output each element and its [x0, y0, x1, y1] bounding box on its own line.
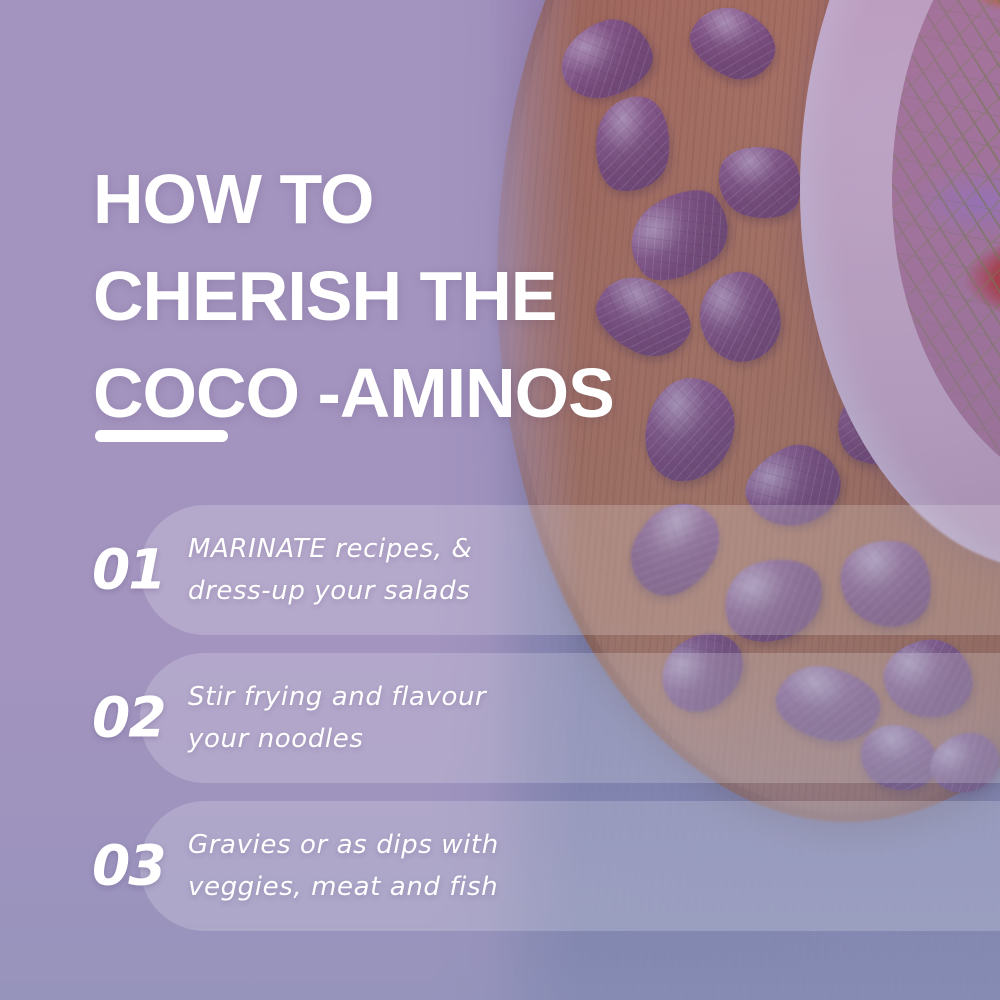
list-item-number: 02 [92, 691, 165, 746]
title-line-3: COCO -AMINOS [93, 345, 733, 442]
list-item-text: Gravies or as dips with veggies, meat an… [188, 824, 748, 908]
list-item-text: MARINATE recipes, & dress-up your salads [188, 528, 748, 612]
list-item-text-line: veggies, meat and fish [188, 866, 748, 908]
list-item-number: 01 [92, 543, 165, 598]
list-item-text-line: Gravies or as dips with [188, 824, 748, 866]
title-line-1: HOW TO [93, 151, 733, 248]
list-item: 03 Gravies or as dips with veggies, meat… [0, 801, 1000, 931]
poster: HOW TO CHERISH THE COCO -AMINOS 01 MARIN… [0, 0, 1000, 1000]
numbered-list: 01 MARINATE recipes, & dress-up your sal… [0, 505, 1000, 949]
poster-content: HOW TO CHERISH THE COCO -AMINOS 01 MARIN… [0, 0, 1000, 1000]
list-item-text-line: dress-up your salads [188, 570, 748, 612]
list-item-text-line: MARINATE recipes, & [188, 528, 748, 570]
list-item: 01 MARINATE recipes, & dress-up your sal… [0, 505, 1000, 635]
title-line-2: CHERISH THE [93, 248, 733, 345]
list-item-text: Stir frying and flavour your noodles [188, 676, 748, 760]
page-title: HOW TO CHERISH THE COCO -AMINOS [93, 151, 733, 442]
list-item-number: 03 [92, 839, 165, 894]
list-item: 02 Stir frying and flavour your noodles [0, 653, 1000, 783]
list-item-text-line: Stir frying and flavour [188, 676, 748, 718]
list-item-text-line: your noodles [188, 718, 748, 760]
title-divider [95, 430, 228, 442]
